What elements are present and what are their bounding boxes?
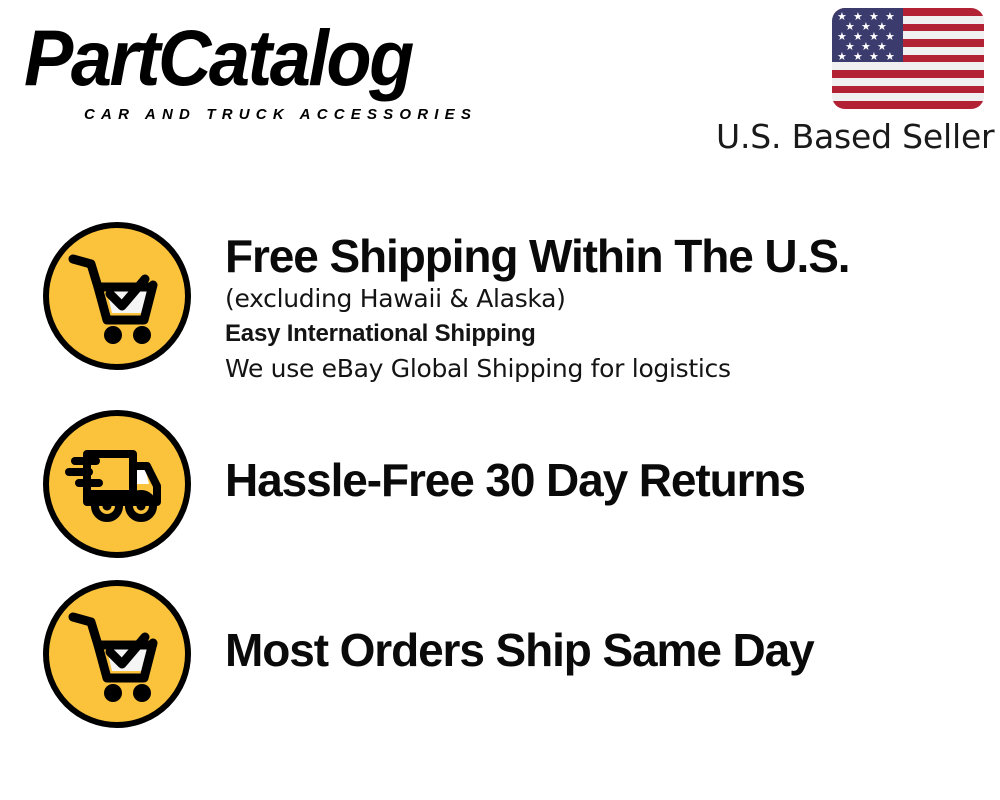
us-based-seller-label: U.S. Based Seller [716,118,986,156]
feature-text-returns: Hassle-Free 30 Day Returns [191,410,1000,506]
promo-banner: PartCatalog CAR AND TRUCK ACCESSORIES ★ … [0,0,1000,800]
feature-note: (excluding Hawaii & Alaska) [225,282,1000,316]
us-based-seller-badge: ★ ★ ★ ★ ★ ★ ★ ★ ★ ★ ★ ★ ★ ★ ★ ★ ★ ★ U.S.… [716,8,986,156]
shopping-cart-check-icon [43,222,191,370]
brand-tagline: CAR AND TRUCK ACCESSORIES [84,106,477,123]
us-flag-icon: ★ ★ ★ ★ ★ ★ ★ ★ ★ ★ ★ ★ ★ ★ ★ ★ ★ ★ [832,8,984,109]
brand-logo: PartCatalog CAR AND TRUCK ACCESSORIES [24,18,494,118]
feature-sub-text: We use eBay Global Shipping for logistic… [225,352,1000,386]
feature-title: Hassle-Free 30 Day Returns [225,454,1000,506]
flag-canton: ★ ★ ★ ★ ★ ★ ★ ★ ★ ★ ★ ★ ★ ★ ★ ★ ★ ★ [832,8,903,62]
feature-list: Free Shipping Within The U.S. (excluding… [0,222,1000,728]
feature-text-same-day: Most Orders Ship Same Day [191,580,1000,676]
feature-sub-heading: Easy International Shipping [225,316,1000,352]
feature-title: Most Orders Ship Same Day [225,624,1000,676]
feature-row-returns: Hassle-Free 30 Day Returns [0,410,1000,558]
feature-title: Free Shipping Within The U.S. [225,230,1000,282]
feature-row-free-shipping: Free Shipping Within The U.S. (excluding… [0,222,1000,386]
feature-text-free-shipping: Free Shipping Within The U.S. (excluding… [191,222,1000,386]
shopping-cart-check-icon [43,580,191,728]
delivery-truck-icon [43,410,191,558]
brand-wordmark: PartCatalog [24,18,494,99]
feature-row-same-day: Most Orders Ship Same Day [0,580,1000,728]
